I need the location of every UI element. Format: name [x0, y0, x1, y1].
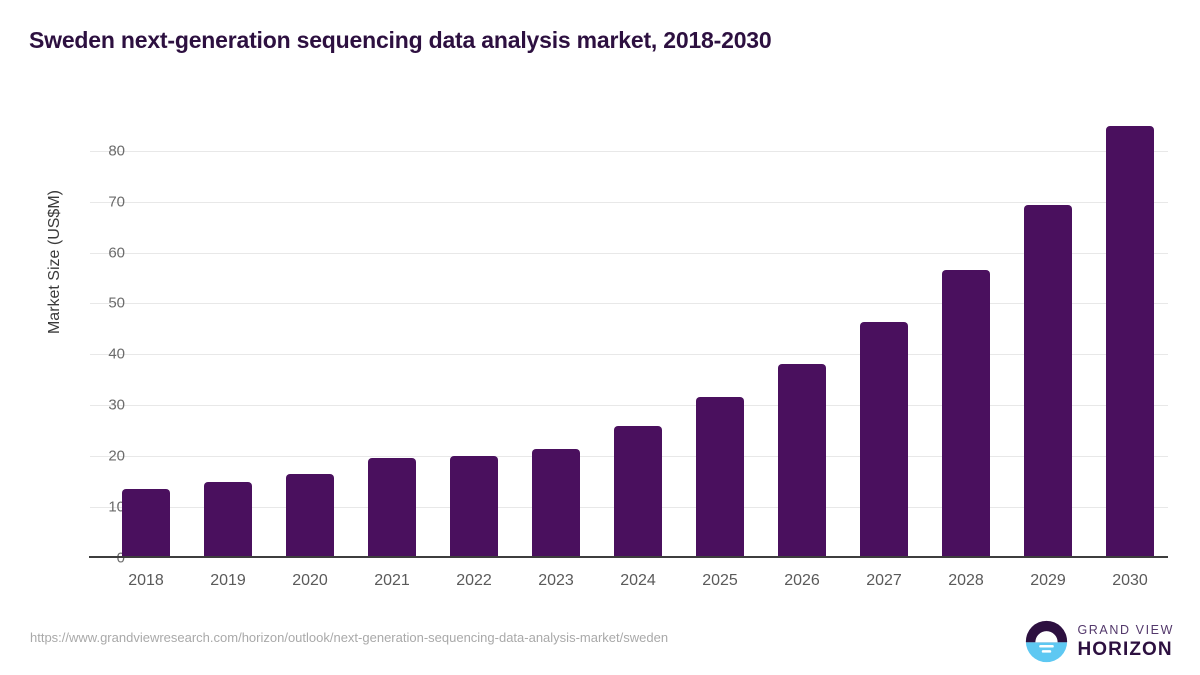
bar-group[interactable] [597, 110, 679, 558]
bar-series: 2018201920202021202220232024202520262027… [105, 110, 1168, 558]
bar-group[interactable] [351, 110, 433, 558]
bar-group[interactable] [433, 110, 515, 558]
bar-group[interactable] [761, 110, 843, 558]
x-axis-tick-label: 2018 [105, 572, 187, 590]
bar-group[interactable] [1007, 110, 1089, 558]
source-url[interactable]: https://www.grandviewresearch.com/horizo… [30, 630, 668, 645]
bar[interactable] [532, 449, 580, 558]
x-axis-tick-label: 2028 [925, 572, 1007, 590]
bar[interactable] [778, 364, 826, 558]
horizon-sun-circle-icon [1025, 620, 1068, 663]
x-axis-tick-label: 2022 [433, 572, 515, 590]
x-axis-tick-label: 2029 [1007, 572, 1089, 590]
chart-title: Sweden next-generation sequencing data a… [29, 27, 771, 54]
bar[interactable] [122, 489, 170, 558]
logo-line-horizon: HORIZON [1077, 640, 1174, 659]
bar-group[interactable] [843, 110, 925, 558]
brand-logo[interactable]: GRAND VIEW HORIZON [1025, 620, 1174, 663]
bar[interactable] [942, 270, 990, 558]
bar[interactable] [368, 458, 416, 558]
bar-group[interactable] [187, 110, 269, 558]
bar[interactable] [1024, 205, 1072, 558]
bar[interactable] [204, 482, 252, 558]
bar[interactable] [696, 397, 744, 558]
bar[interactable] [1106, 126, 1154, 558]
chart-card: Sweden next-generation sequencing data a… [0, 0, 1200, 675]
x-axis-tick-label: 2025 [679, 572, 761, 590]
bar[interactable] [614, 426, 662, 558]
y-axis-label: Market Size (US$M) [46, 190, 66, 420]
plot-area: 01020304050607080 2018201920202021202220… [105, 110, 1168, 558]
x-axis-tick-label: 2027 [843, 572, 925, 590]
bar-group[interactable] [925, 110, 1007, 558]
bar[interactable] [450, 456, 498, 558]
x-axis-tick-label: 2030 [1089, 572, 1171, 590]
x-axis-tick-label: 2023 [515, 572, 597, 590]
logo-wordmark: GRAND VIEW HORIZON [1077, 624, 1174, 660]
x-axis-tick-label: 2024 [597, 572, 679, 590]
bar[interactable] [860, 322, 908, 558]
x-axis-tick-label: 2026 [761, 572, 843, 590]
y-axis-label-text: Market Size (US$M) [46, 190, 64, 334]
x-axis-tick-label: 2019 [187, 572, 269, 590]
bar-group[interactable] [679, 110, 761, 558]
bar-group[interactable] [269, 110, 351, 558]
x-axis-tick-label: 2021 [351, 572, 433, 590]
x-axis-line [89, 556, 1168, 558]
bar-group[interactable] [105, 110, 187, 558]
bar-group[interactable] [515, 110, 597, 558]
x-axis-tick-label: 2020 [269, 572, 351, 590]
bar-group[interactable] [1089, 110, 1171, 558]
logo-line-grand-view: GRAND VIEW [1077, 624, 1174, 637]
bar[interactable] [286, 474, 334, 559]
